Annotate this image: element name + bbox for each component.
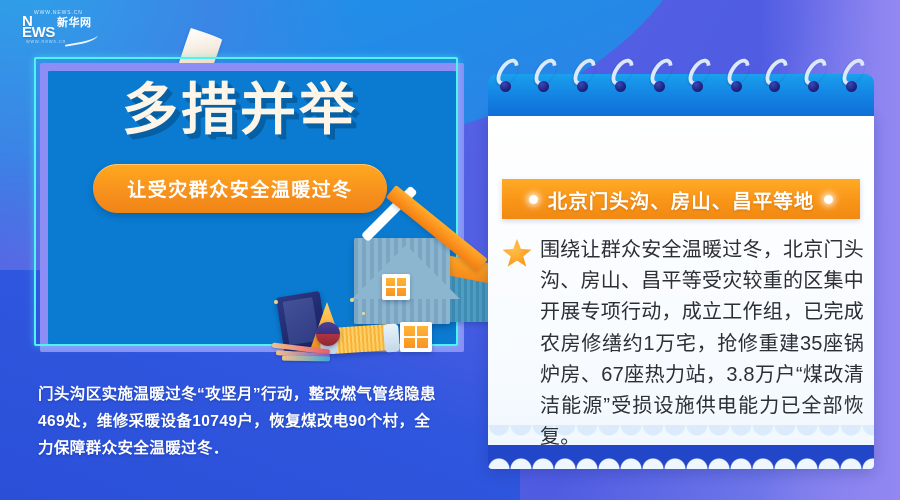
notepad-heading-text: 北京门头沟、房山、昌平等地: [548, 185, 815, 214]
notepad-card: 北京门头沟、房山、昌平等地 围绕让群众安全温暖过冬，北京门头沟、房山、昌平等受灾…: [488, 57, 874, 469]
stationery-illustration: [258, 292, 418, 364]
page-title: 多措并举: [60, 80, 420, 140]
rolled-blanket-cap-right-icon: [383, 324, 400, 353]
left-caption-text: 门头沟区实施温暖过冬“攻坚月”行动，整改燃气管线隐患469处，维修采暖设备107…: [38, 381, 438, 462]
ball-icon: [316, 322, 340, 346]
notepad-body-text: 围绕让群众安全温暖过冬，北京门头沟、房山、昌平等受灾较重的区集中开展专项行动，成…: [540, 235, 864, 453]
flower-bullet-icon: [502, 239, 532, 269]
xinhuanet-logo: WWW.NEWS.CN N EWS 新华网 www.news.cn: [22, 10, 104, 52]
sparkle-icon: [350, 298, 354, 302]
notepad-heading-bar: 北京门头沟、房山、昌平等地: [502, 179, 860, 219]
logo-news-line2: EWS: [22, 27, 55, 38]
sparkle-icon: [362, 312, 365, 315]
heading-dot-left-icon: [529, 195, 538, 204]
logo-url-top: WWW.NEWS.CN: [34, 10, 104, 16]
sparkle-icon: [274, 300, 278, 304]
pencil-icon: [282, 356, 330, 362]
logo-chinese-text: 新华网: [57, 16, 92, 29]
book-page-icon: [283, 297, 320, 345]
notepad-body: 围绕让群众安全温暖过冬，北京门头沟、房山、昌平等受灾较重的区集中开展专项行动，成…: [502, 235, 864, 453]
notepad-header-bar: [488, 74, 874, 116]
subtitle-pill: 让受灾群众安全温暖过冬: [93, 164, 387, 213]
logo-news-text: N EWS: [22, 16, 55, 38]
heading-dot-right-icon: [824, 195, 833, 204]
